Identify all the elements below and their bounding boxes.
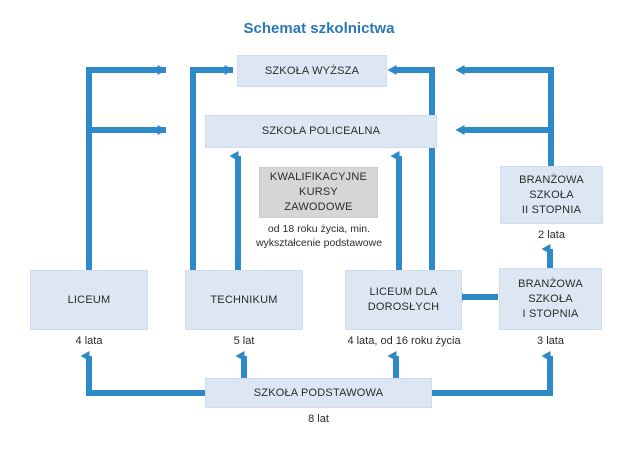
node-szkola-wyzsza[interactable]: SZKOŁA WYŻSZA (237, 55, 387, 87)
node-szkola-policealna[interactable]: SZKOŁA POLICEALNA (205, 115, 437, 148)
node-branzowa-szkola-i-stopnia-label: BRANŻOWA SZKOŁA I STOPNIA (512, 277, 589, 322)
node-branzowa-szkola-ii-stopnia[interactable]: BRANŻOWA SZKOŁA II STOPNIA (500, 166, 603, 224)
caption-szkola-podstawowa: 8 lat (205, 412, 432, 426)
flow-liceum-to-szkola-wyzsza (89, 70, 166, 270)
node-liceum[interactable]: LICEUM (30, 270, 148, 330)
node-kwalifikacyjne-kursy-zawodowe-label: KWALIFIKACYJNE KURSY ZAWODOWE (260, 170, 377, 215)
flow-podstawowa-to-branzowa-i (432, 356, 550, 393)
caption-technikum: 5 lat (185, 334, 303, 348)
diagram-canvas: Schemat szkolnictwa (0, 0, 638, 450)
node-szkola-wyzsza-label: SZKOŁA WYŻSZA (259, 64, 365, 79)
flow-podstawowa-to-liceum (89, 356, 205, 393)
node-szkola-policealna-label: SZKOŁA POLICEALNA (256, 124, 386, 139)
caption-branzowa-szkola-ii-stopnia: 2 lata (500, 228, 603, 242)
flow-branzowa-ii-to-szkola-wyzsza (464, 70, 551, 166)
flow-liceum-doroslych-to-szkola-wyzsza (396, 70, 432, 270)
node-szkola-podstawowa[interactable]: SZKOŁA PODSTAWOWA (205, 378, 432, 408)
node-liceum-dla-doroslych-label: LICEUM DLA DOROSŁYCH (362, 285, 445, 315)
node-kwalifikacyjne-kursy-zawodowe[interactable]: KWALIFIKACYJNE KURSY ZAWODOWE (259, 167, 378, 218)
node-liceum-label: LICEUM (62, 293, 117, 308)
caption-liceum-dla-doroslych: 4 lata, od 16 roku życia (331, 334, 477, 348)
node-branzowa-szkola-ii-stopnia-label: BRANŻOWA SZKOŁA II STOPNIA (513, 173, 590, 218)
caption-liceum: 4 lata (30, 334, 148, 348)
note-kwalifikacyjne-kursy-zawodowe: od 18 roku życia, min. wykształcenie pod… (249, 222, 389, 250)
node-liceum-dla-doroslych[interactable]: LICEUM DLA DOROSŁYCH (345, 270, 462, 330)
node-szkola-podstawowa-label: SZKOŁA PODSTAWOWA (248, 386, 390, 401)
page-title: Schemat szkolnictwa (0, 20, 638, 37)
node-technikum[interactable]: TECHNIKUM (185, 270, 303, 330)
flow-technikum-to-szkola-wyzsza (193, 70, 233, 270)
caption-branzowa-szkola-i-stopnia: 3 lata (499, 334, 602, 348)
node-branzowa-szkola-i-stopnia[interactable]: BRANŻOWA SZKOŁA I STOPNIA (499, 268, 602, 330)
node-technikum-label: TECHNIKUM (204, 293, 283, 308)
